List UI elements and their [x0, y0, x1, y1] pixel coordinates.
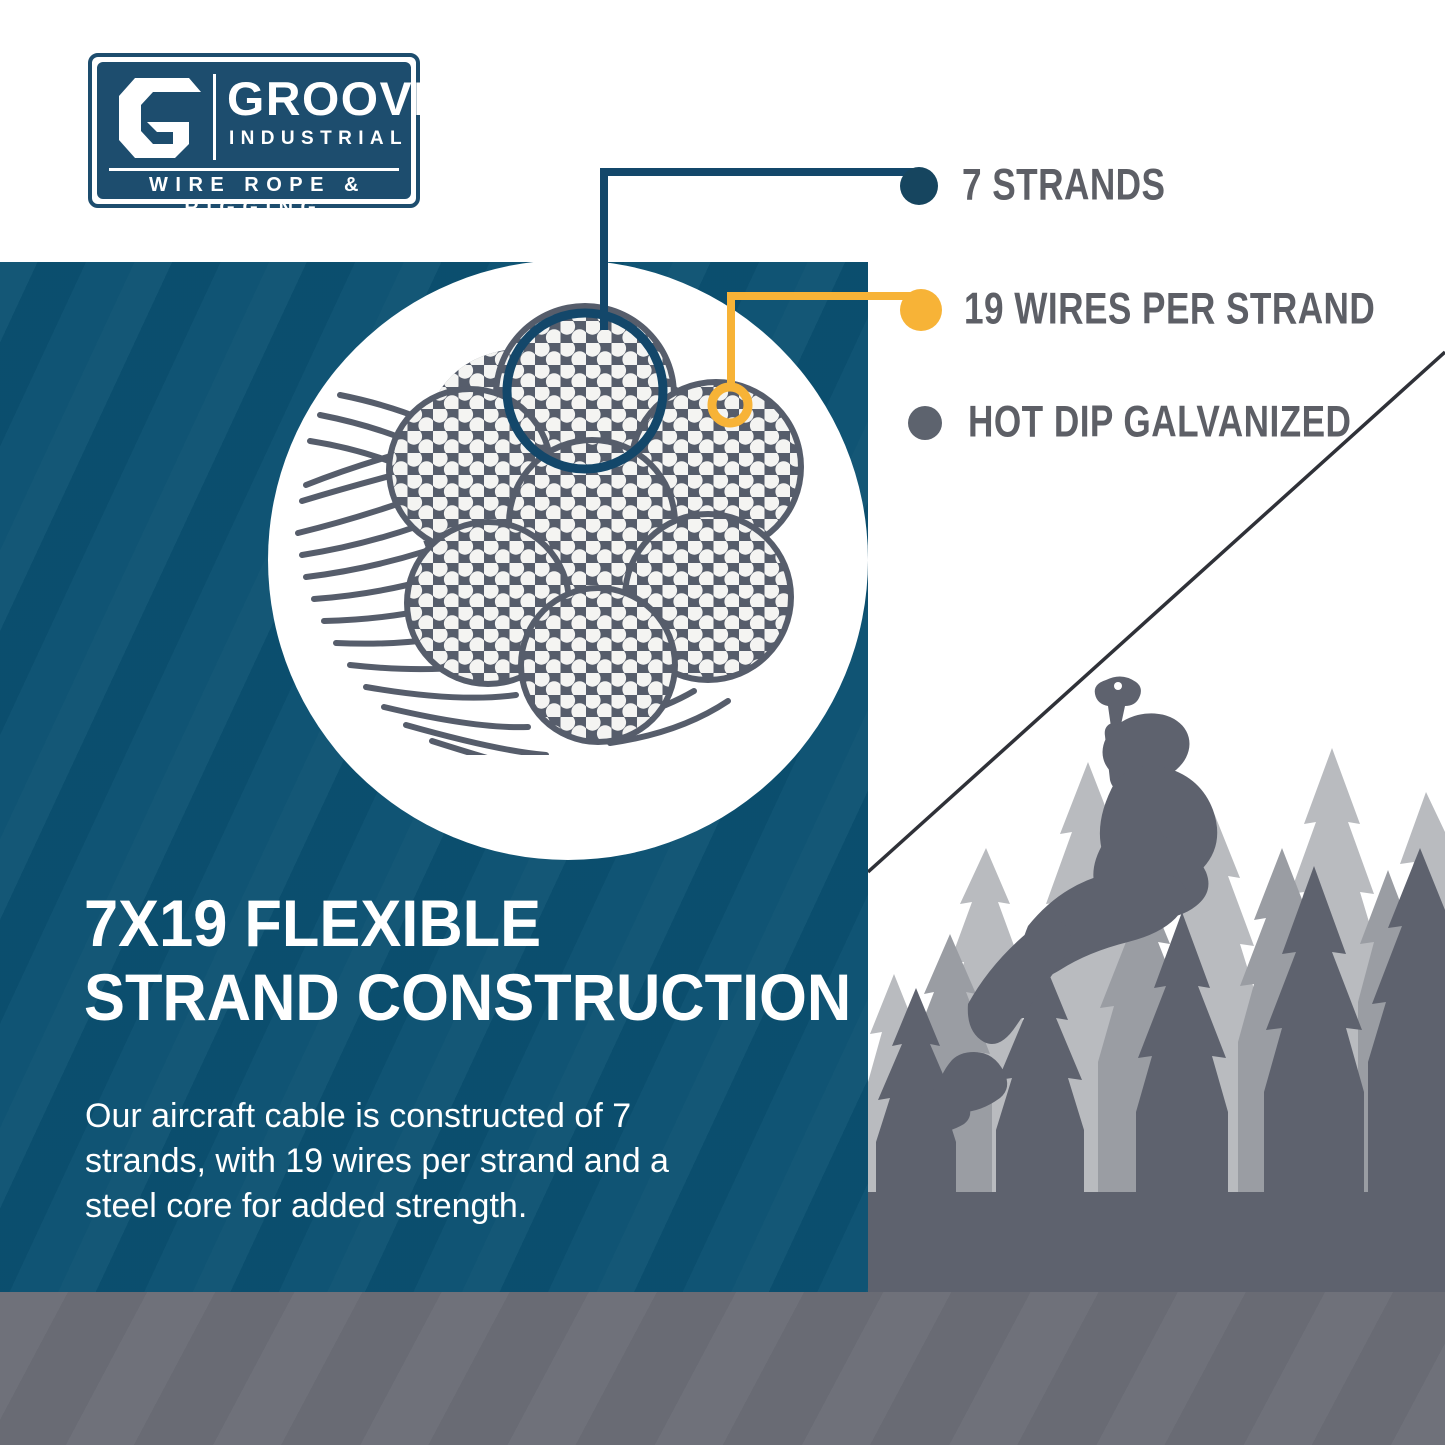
logo-frame: GROOVE INDUSTRIAL WIRE ROPE & RIGGING — [88, 53, 420, 208]
callout-item-galvanized[interactable]: HOT DIP GALVANIZED — [908, 400, 1404, 445]
logo-divider — [213, 74, 216, 160]
callout-label: 19 WIRES PER STRAND — [964, 284, 1375, 334]
headline-line-2: STRAND CONSTRUCTION — [84, 960, 791, 1034]
logo-rule — [109, 168, 399, 171]
callout-dot-icon — [900, 167, 938, 205]
logo-wordmark: GROOVE — [227, 74, 447, 124]
logo-subtitle: INDUSTRIAL — [229, 128, 408, 150]
page-title: 7X19 FLEXIBLE STRAND CONSTRUCTION — [84, 886, 791, 1034]
individual-strands — [384, 300, 818, 755]
callout-dot-icon — [908, 406, 942, 440]
headline-line-1: 7X19 FLEXIBLE — [84, 886, 791, 960]
footer-band — [0, 1292, 1445, 1445]
callout-item-strands[interactable]: 7 STRANDS — [900, 163, 1193, 208]
callout-item-wires[interactable]: 19 WIRES PER STRAND — [900, 287, 1431, 332]
callout-dot-icon — [900, 289, 942, 331]
logo-tagline: WIRE ROPE & RIGGING — [97, 174, 411, 220]
trolley-pulley-hole — [1114, 682, 1122, 690]
callout-label: HOT DIP GALVANIZED — [968, 397, 1351, 447]
logo-plate: GROOVE INDUSTRIAL WIRE ROPE & RIGGING — [97, 62, 411, 199]
brand-logo[interactable]: GROOVE INDUSTRIAL WIRE ROPE & RIGGING — [88, 53, 420, 208]
infographic-canvas: GROOVE INDUSTRIAL WIRE ROPE & RIGGING 7X… — [0, 0, 1445, 1445]
groove-g-monogram-icon — [111, 72, 207, 164]
body-description: Our aircraft cable is constructed of 7 s… — [85, 1094, 745, 1229]
callout-label: 7 STRANDS — [962, 160, 1165, 210]
wire-rope-cross-section-illustration — [280, 255, 860, 755]
footer-stripe-texture — [0, 1292, 1445, 1445]
